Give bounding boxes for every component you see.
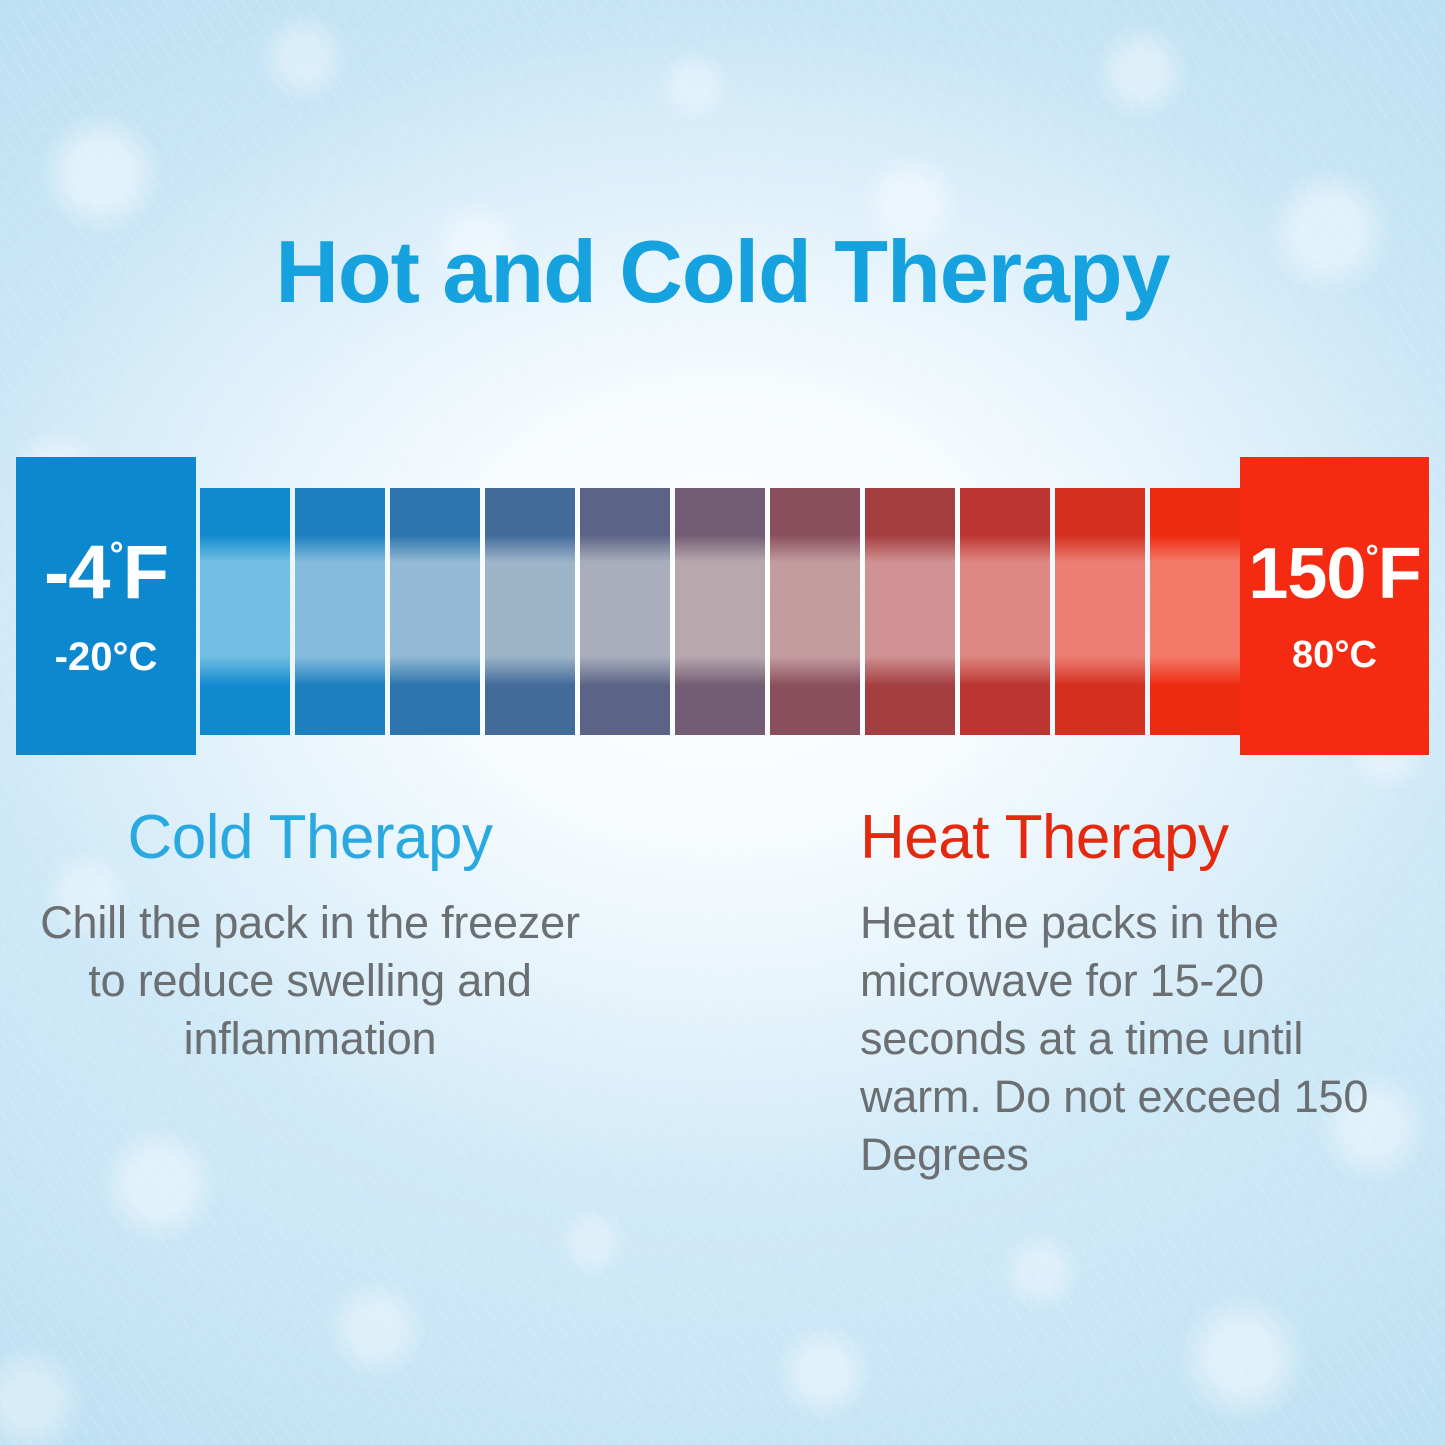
cold-celsius-label: -20°C: [55, 637, 158, 677]
temperature-scale: -4°F -20°C 150°F 80°C: [0, 0, 1445, 1445]
scale-segment-3: [390, 488, 480, 735]
infographic-page: Hot and Cold Therapy -4°F -20°C 150°F 80…: [0, 0, 1445, 1445]
scale-segment-7: [770, 488, 860, 735]
scale-segment-1: [200, 488, 290, 735]
cold-degree-icon: °: [110, 538, 123, 573]
heat-therapy-column: Heat Therapy Heat the packs in the micro…: [860, 805, 1400, 1184]
hot-fahrenheit-label: 150°F: [1248, 538, 1420, 610]
cold-endcap: -4°F -20°C: [16, 457, 196, 755]
heat-therapy-body: Heat the packs in the microwave for 15-2…: [860, 894, 1400, 1184]
hot-fahrenheit-unit: F: [1378, 538, 1421, 610]
scale-segment-5: [580, 488, 670, 735]
cold-fahrenheit-unit: F: [123, 535, 168, 611]
scale-segment-10: [1055, 488, 1145, 735]
cold-therapy-column: Cold Therapy Chill the pack in the freez…: [36, 805, 584, 1068]
cold-fahrenheit-value: -4: [44, 535, 110, 611]
cold-fahrenheit-label: -4°F: [44, 535, 168, 611]
scale-segment-8: [865, 488, 955, 735]
scale-segment-4: [485, 488, 575, 735]
cold-therapy-heading: Cold Therapy: [36, 805, 584, 872]
scale-segment-6: [675, 488, 765, 735]
scale-segment-2: [295, 488, 385, 735]
scale-segment-9: [960, 488, 1050, 735]
hot-fahrenheit-value: 150: [1248, 538, 1365, 610]
gradient-segment-bar: [200, 488, 1240, 735]
hot-degree-icon: °: [1365, 541, 1377, 574]
scale-segment-11: [1150, 488, 1240, 735]
hot-endcap: 150°F 80°C: [1240, 457, 1429, 755]
hot-celsius-label: 80°C: [1292, 636, 1377, 674]
heat-therapy-heading: Heat Therapy: [860, 805, 1400, 872]
cold-therapy-body: Chill the pack in the freezer to reduce …: [36, 894, 584, 1068]
